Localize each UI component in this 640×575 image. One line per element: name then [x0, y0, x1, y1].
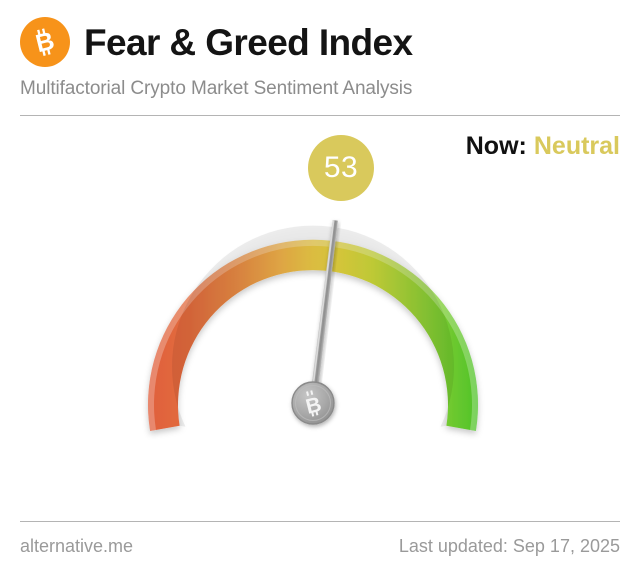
- footer-divider: [20, 521, 620, 522]
- page-subtitle: Multifactorial Crypto Market Sentiment A…: [20, 79, 620, 98]
- footer-updated: Last updated: Sep 17, 2025: [399, 537, 620, 555]
- brand-row: B Fear & Greed Index: [20, 14, 620, 70]
- header: B Fear & Greed Index Multifactorial Cryp…: [20, 14, 620, 106]
- fear-greed-index-card: B Fear & Greed Index Multifactorial Cryp…: [0, 0, 640, 575]
- header-divider: [20, 115, 620, 116]
- footer: alternative.me Last updated: Sep 17, 202…: [20, 533, 620, 559]
- footer-source[interactable]: alternative.me: [20, 537, 133, 555]
- gauge-hub: B: [292, 382, 334, 424]
- bitcoin-icon: B: [20, 17, 70, 67]
- gauge-value-bubble: 53: [308, 135, 374, 201]
- gauge-value: 53: [324, 153, 358, 183]
- page-title: Fear & Greed Index: [84, 24, 413, 61]
